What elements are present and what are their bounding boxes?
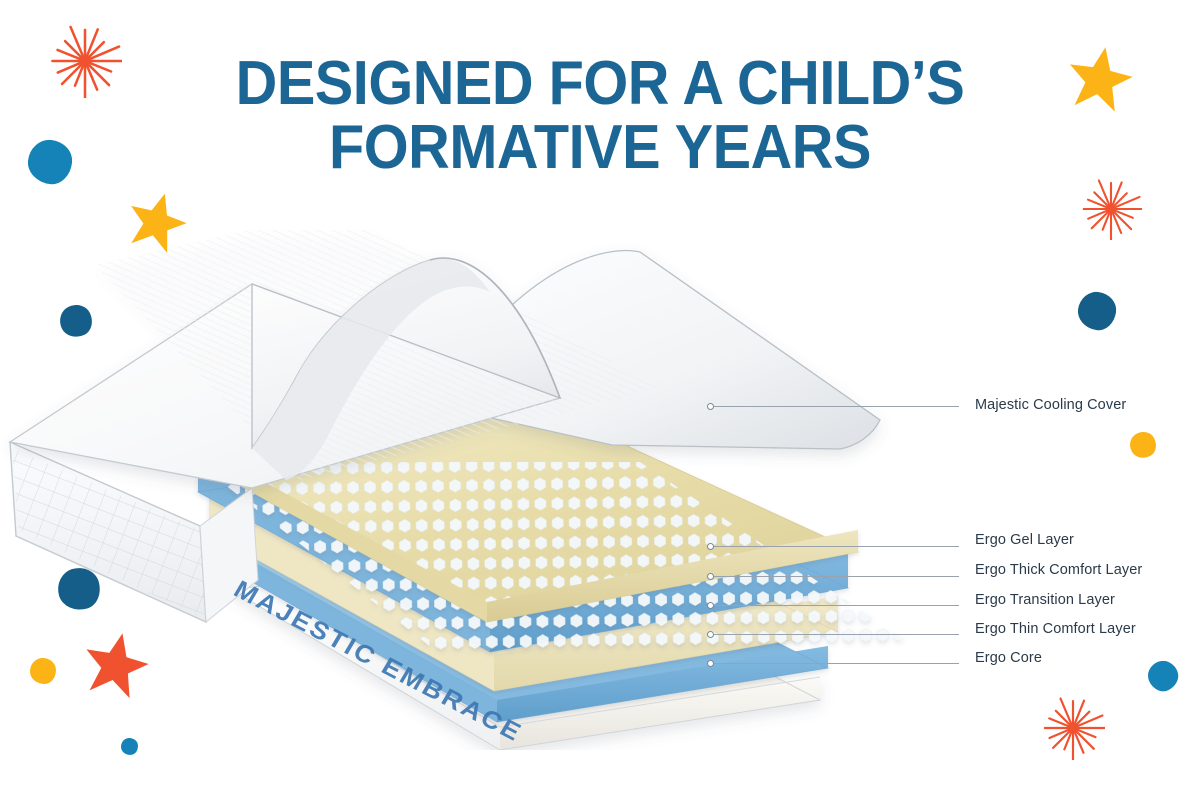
page-title-line-2: FORMATIVE YEARS [42,116,1158,180]
callout-marker-thin [707,631,714,638]
decoration-dot-right-upper [1076,290,1119,333]
decoration-star-top-right [1061,39,1140,118]
callout-leader-transition [714,605,959,606]
callout-leader-thick [714,576,959,577]
callout-marker-core [707,660,714,667]
callout-label-cover: Majestic Cooling Cover [975,397,1126,413]
callout-label-transition: Ergo Transition Layer [975,592,1115,608]
callout-label-gel: Ergo Gel Layer [975,532,1074,548]
callout-marker-thick [707,573,714,580]
decoration-sparkle-bottom-right [1041,696,1105,760]
decoration-sparkle-top-right [1080,178,1142,240]
callout-marker-cover [707,403,714,410]
callout-label-thin: Ergo Thin Comfort Layer [975,621,1136,637]
callout-marker-gel [707,543,714,550]
decoration-dot-right-lower [1143,656,1183,696]
callout-leader-gel [714,546,959,547]
callout-label-thick: Ergo Thick Comfort Layer [975,562,1142,578]
callout-leader-thin [714,634,959,635]
callout-leader-cover [714,406,959,407]
decoration-dot-top-left [26,138,74,186]
poster-canvas: DESIGNED FOR A CHILD’S FORMATIVE YEARS [0,0,1200,800]
mattress-illustration [0,230,960,750]
decoration-sparkle-top-left [48,24,122,98]
page-title-line-1: DESIGNED FOR A CHILD’S [42,52,1158,116]
callout-marker-transition [707,602,714,609]
callout-leader-core [714,663,959,664]
page-title: DESIGNED FOR A CHILD’S FORMATIVE YEARS [0,52,1200,180]
decoration-dot-right-mid [1125,427,1160,462]
callout-label-core: Ergo Core [975,650,1042,666]
